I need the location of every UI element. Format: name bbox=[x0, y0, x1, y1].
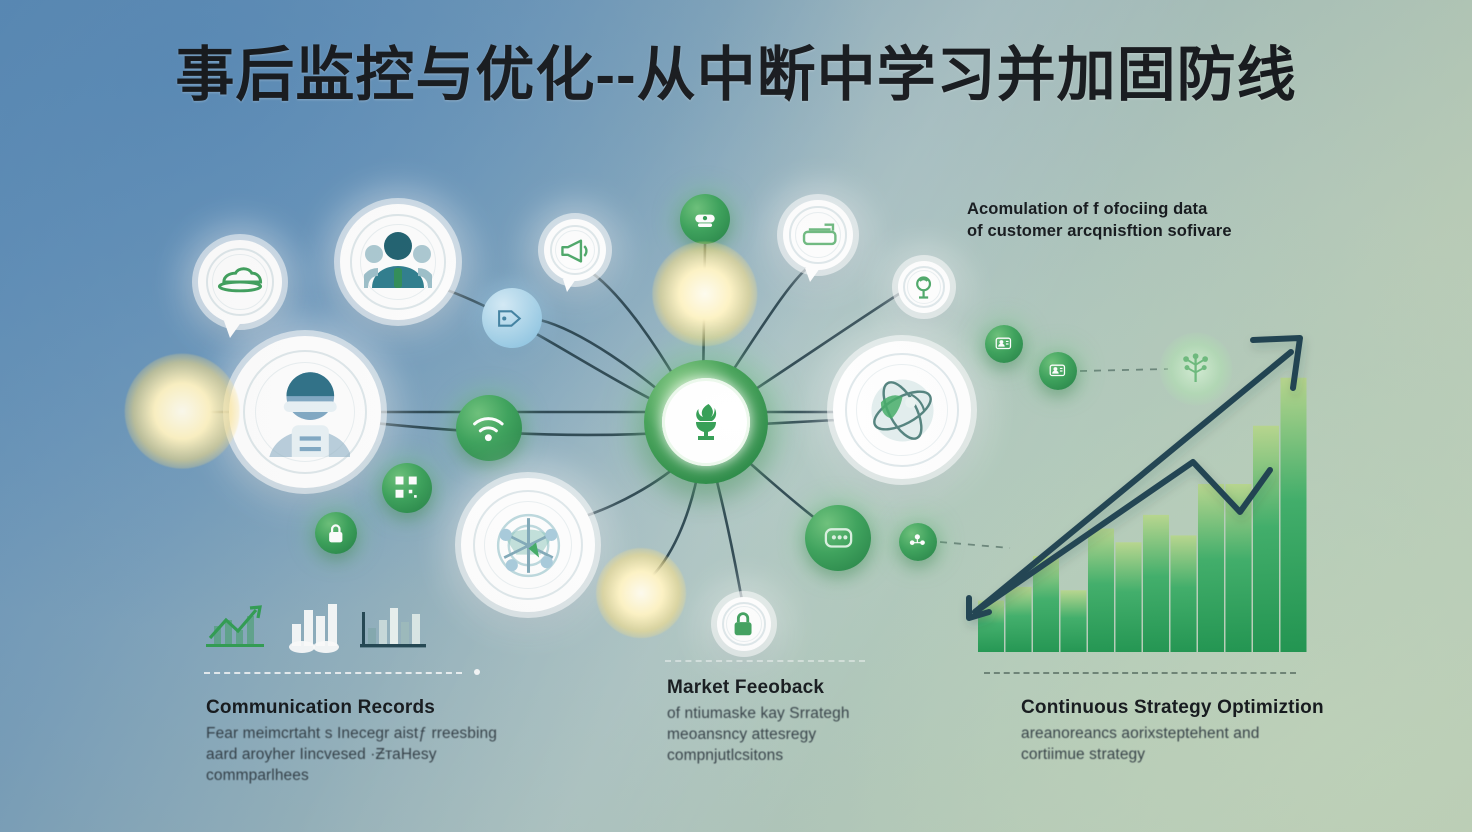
node-user-card-icon[interactable] bbox=[1039, 352, 1077, 390]
user-card-icon bbox=[993, 333, 1015, 355]
tag-badge-icon bbox=[495, 301, 530, 336]
divider-right bbox=[984, 672, 1296, 674]
chart-bar bbox=[1253, 426, 1279, 652]
node-document-stack-icon[interactable] bbox=[783, 200, 853, 270]
chart-bar bbox=[1006, 587, 1032, 652]
wifi-signal-icon bbox=[470, 409, 509, 448]
bubble-tail bbox=[805, 268, 820, 282]
team-people-icon bbox=[364, 228, 432, 296]
caption-heading: Continuous Strategy Optimiztion bbox=[1021, 697, 1351, 719]
node-lock-icon[interactable] bbox=[315, 512, 357, 554]
mini-charts-row bbox=[200, 598, 440, 659]
chart-bar bbox=[1061, 590, 1087, 652]
node-team-people-icon[interactable] bbox=[340, 204, 456, 320]
growth-bar-chart bbox=[969, 338, 1307, 652]
dashed-connectors bbox=[940, 369, 1168, 548]
central-hub-node[interactable] bbox=[644, 360, 768, 484]
location-pin-icon bbox=[909, 272, 940, 303]
caption-communication-records: Communication Records Fear meimcrtaht s … bbox=[206, 697, 506, 786]
node-chat-dots-icon[interactable] bbox=[805, 505, 871, 571]
annotation-line-1: Acomulation of f ofociing data bbox=[967, 198, 1237, 220]
node-cloud-server-icon[interactable] bbox=[680, 194, 730, 244]
chart-bar bbox=[1088, 529, 1114, 652]
bubble-tail bbox=[563, 279, 576, 292]
caption-line-1: areanoreancs aorixsteptehent and bbox=[1021, 724, 1351, 745]
chart-bar bbox=[1116, 542, 1142, 652]
lock-icon bbox=[324, 521, 349, 546]
user-card-icon bbox=[1047, 360, 1069, 382]
chart-bar bbox=[1198, 484, 1224, 652]
qr-scan-icon bbox=[392, 473, 422, 503]
caption-heading: Market Feeoback bbox=[667, 677, 937, 699]
chart-bar bbox=[1171, 535, 1197, 652]
node-network-radar-icon[interactable] bbox=[461, 478, 595, 612]
mini-bar-chart-icon bbox=[289, 604, 339, 653]
chart-bar bbox=[1143, 515, 1169, 652]
node-globe-network-icon[interactable] bbox=[833, 341, 971, 479]
chat-bubble-cloud-icon bbox=[215, 257, 265, 307]
node-user-group-icon[interactable] bbox=[899, 523, 937, 561]
divider-mid bbox=[665, 660, 865, 662]
infographic-canvas: 事后监控与优化--从中断中学习并加固防线 bbox=[0, 0, 1472, 832]
network-radar-icon bbox=[489, 506, 568, 585]
lock-icon bbox=[728, 608, 760, 640]
hub-inner-disc bbox=[662, 378, 750, 466]
support-agent-icon bbox=[260, 367, 350, 457]
top-right-annotation: Acomulation of f ofociing data of custom… bbox=[967, 198, 1237, 243]
caption-market-feedback: Market Feeoback of ntiumaske kay Srrateg… bbox=[667, 677, 937, 766]
cloud-server-icon bbox=[690, 204, 720, 234]
caption-heading: Communication Records bbox=[206, 697, 506, 719]
lamp-torch-icon bbox=[686, 400, 726, 444]
document-stack-icon bbox=[798, 215, 839, 256]
chat-dots-icon bbox=[819, 519, 858, 558]
divider-left bbox=[204, 672, 462, 674]
node-tag-badge-icon[interactable] bbox=[482, 288, 542, 348]
bubble-tail bbox=[224, 321, 242, 338]
node-chat-bubble-cloud-icon[interactable] bbox=[198, 240, 282, 324]
megaphone-icon bbox=[557, 232, 594, 269]
globe-network-icon bbox=[862, 370, 943, 451]
annotation-line-2: of customer arcqnisftion sofivare bbox=[967, 220, 1237, 242]
caption-line-3: compnjutlcsitons bbox=[667, 746, 937, 767]
caption-line-2: cortiimue strategy bbox=[1021, 745, 1351, 766]
divider-left-dot bbox=[474, 669, 480, 675]
node-user-card-icon[interactable] bbox=[985, 325, 1023, 363]
caption-line-2: meoansncy attesregy bbox=[667, 725, 937, 746]
node-qr-scan-icon[interactable] bbox=[382, 463, 432, 513]
mini-line-chart-icon bbox=[206, 607, 264, 647]
node-support-agent-icon[interactable] bbox=[229, 336, 381, 488]
node-megaphone-icon[interactable] bbox=[544, 219, 606, 281]
caption-continuous-strategy-optimization: Continuous Strategy Optimiztion areanore… bbox=[1021, 697, 1351, 766]
chart-bar bbox=[1281, 378, 1307, 652]
caption-line-1: of ntiumaske kay Srrategh bbox=[667, 704, 937, 725]
node-location-pin-icon[interactable] bbox=[898, 261, 950, 313]
mini-bar-chart-dark-icon bbox=[360, 608, 426, 647]
caption-line-3: commparlhees bbox=[206, 766, 506, 787]
caption-line-2: aard aroyher Iincvesed ·ƵтаНesy bbox=[206, 745, 506, 766]
node-lock-icon[interactable] bbox=[717, 597, 771, 651]
caption-line-1: Fear meimcrtaht s Inecegr aistƒ rreesbin… bbox=[206, 724, 506, 745]
user-group-icon bbox=[907, 531, 929, 553]
node-wifi-signal-icon[interactable] bbox=[456, 395, 522, 461]
